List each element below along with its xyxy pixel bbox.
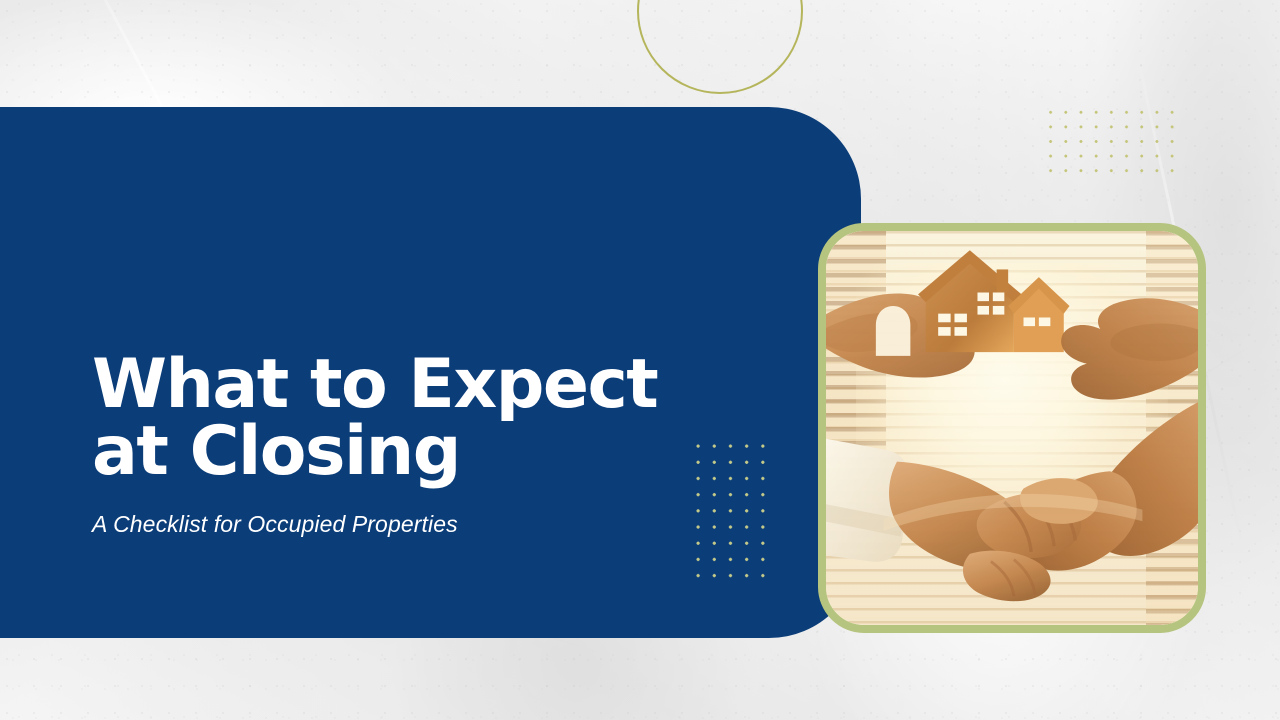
page-title: What to Expect at Closing [92,352,712,485]
dot-grid-topright [1043,105,1182,183]
photo-card [818,223,1206,633]
photo-warm-overlay [826,231,1198,625]
headline-block: What to Expect at Closing A Checklist fo… [92,352,712,538]
slide-canvas: What to Expect at Closing A Checklist fo… [0,0,1280,720]
page-subtitle: A Checklist for Occupied Properties [92,511,712,538]
photo-image [826,231,1198,625]
